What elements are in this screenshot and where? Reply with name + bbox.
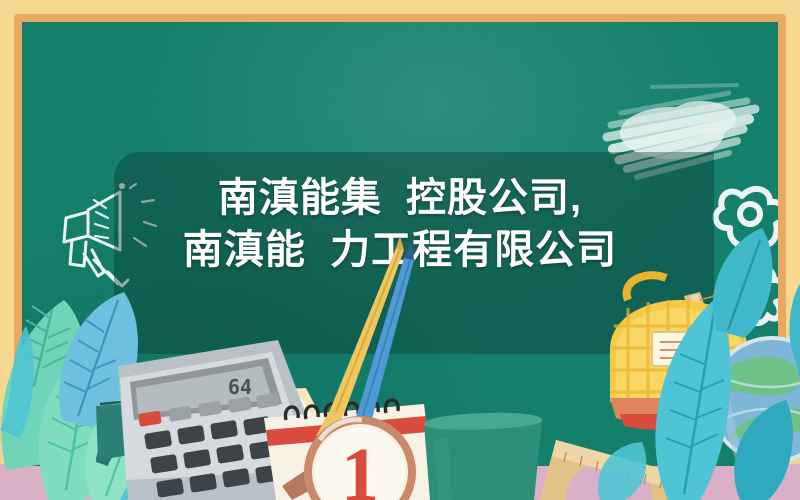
calculator-display-value: 64 [228, 375, 252, 399]
pencil-cup [424, 413, 542, 500]
magnified-number: 1 [341, 433, 379, 500]
banner-image: 南滇能集 控股公司,南滇能 力工程有限公司 [0, 0, 800, 500]
stationery-illustration: 64 [0, 0, 800, 500]
